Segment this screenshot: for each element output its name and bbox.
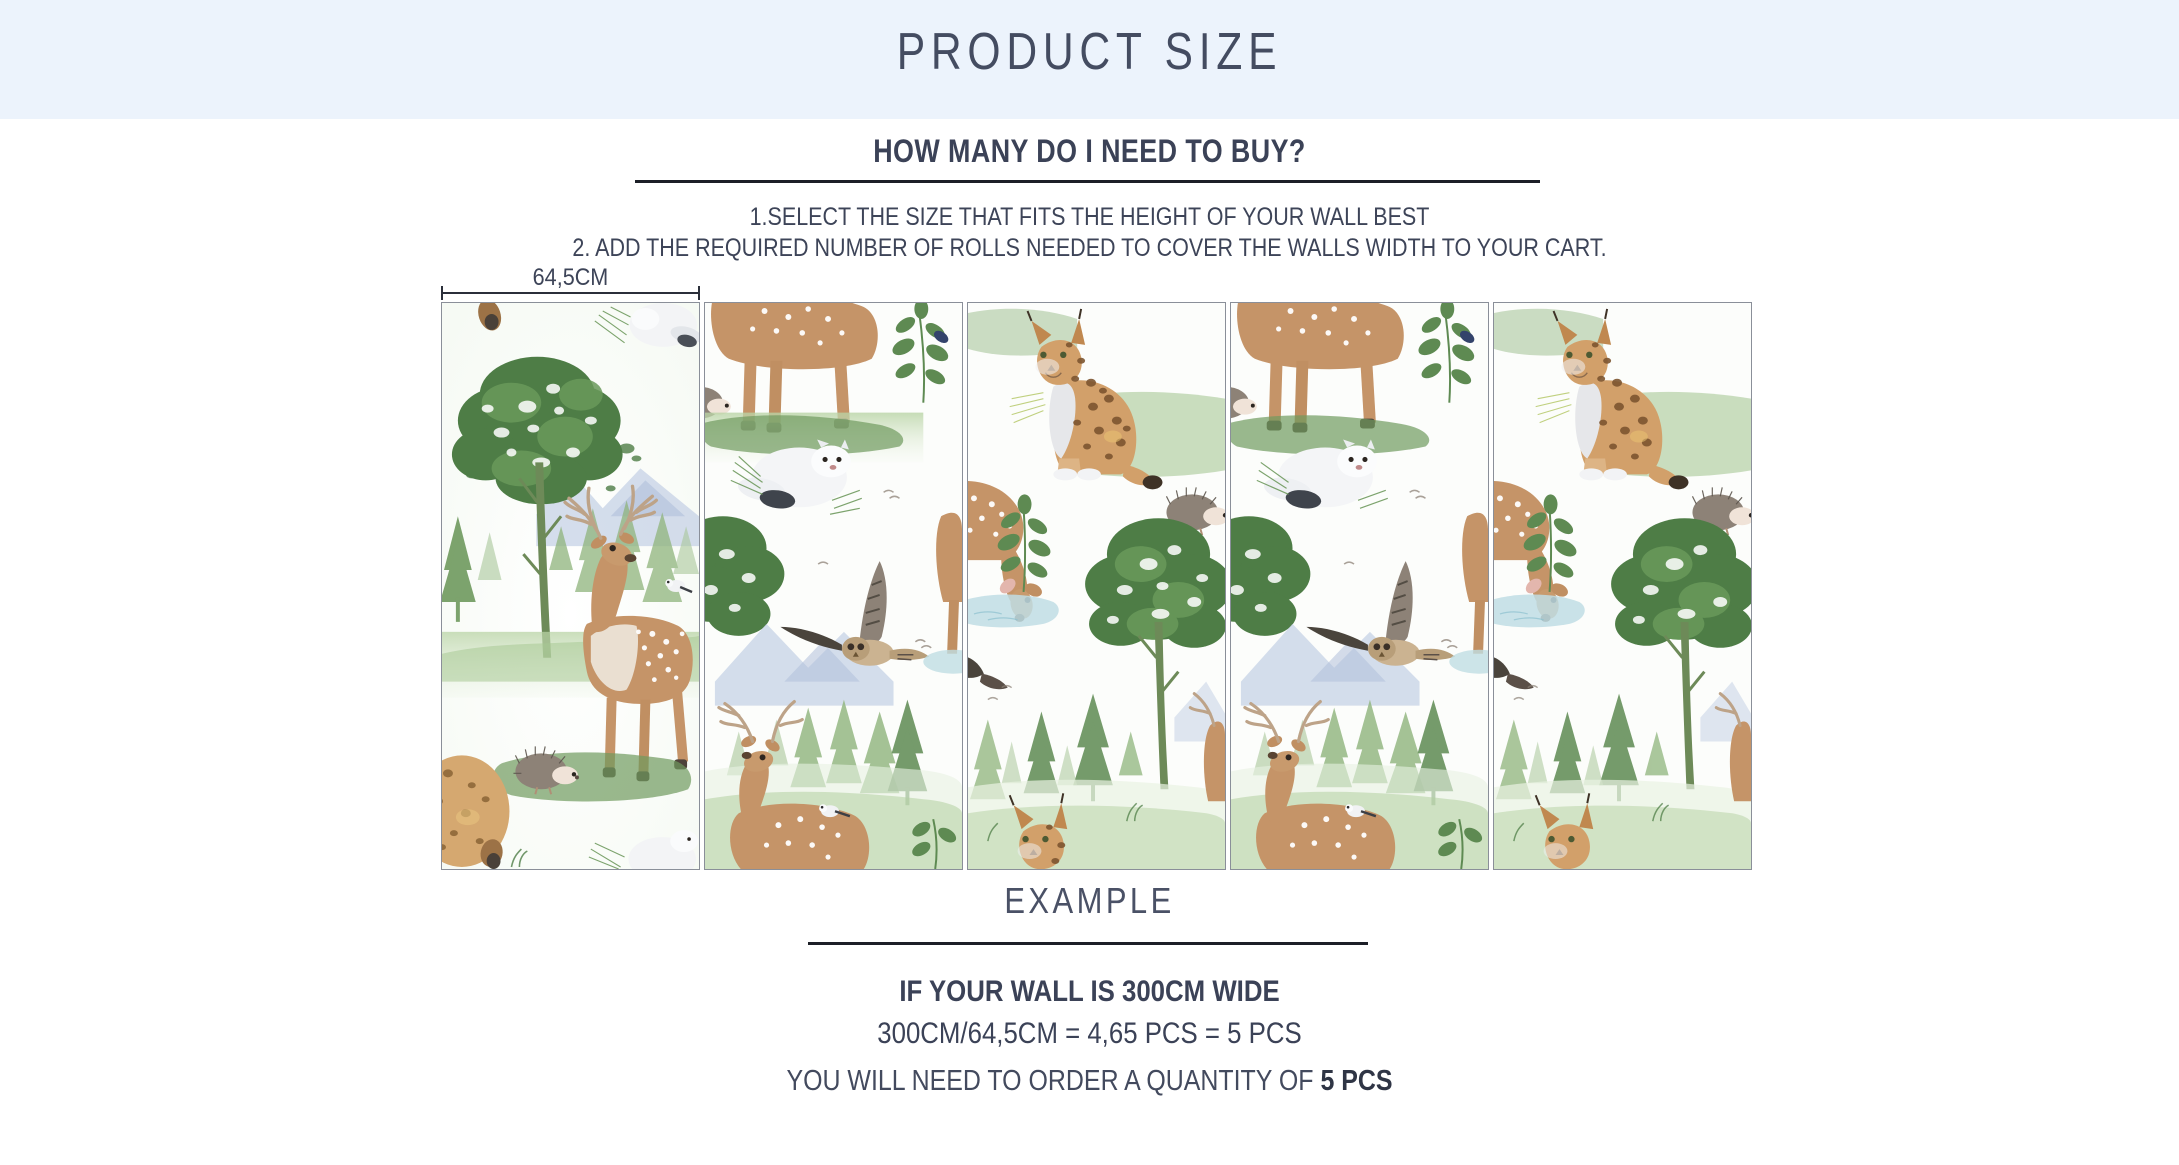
bracket-tick-left [441, 286, 443, 300]
example-divider [808, 942, 1368, 945]
example-order-quantity: YOU WILL NEED TO ORDER A QUANTITY OF 5 P… [153, 1065, 2027, 1098]
roll-panel-2[interactable] [704, 302, 963, 870]
example-calculation: 300CM/64,5CM = 4,65 PCS = 5 PCS [153, 1017, 2027, 1051]
order-quantity-value: 5 PCS [1320, 1065, 1392, 1097]
roll-panel-5[interactable] [1493, 302, 1752, 870]
subheading-divider [635, 180, 1540, 183]
instruction-line-1: 1.SELECT THE SIZE THAT FITS THE HEIGHT O… [153, 203, 2027, 232]
roll-panel-3[interactable] [967, 302, 1226, 870]
bracket-line [441, 292, 700, 294]
instruction-line-2: 2. ADD THE REQUIRED NUMBER OF ROLLS NEED… [153, 234, 2027, 263]
roll-panel-4[interactable] [1230, 302, 1489, 870]
example-wall-width: IF YOUR WALL IS 300CM WIDE [153, 975, 2027, 1009]
roll-panel-1[interactable] [441, 302, 700, 870]
wallpaper-roll-panels [441, 302, 1752, 870]
page-title: PRODUCT SIZE [196, 22, 1983, 82]
order-quantity-prefix: YOU WILL NEED TO ORDER A QUANTITY OF [786, 1065, 1320, 1097]
example-title: EXAMPLE [153, 880, 2027, 922]
bracket-tick-right [698, 286, 700, 300]
width-dimension-bracket [441, 286, 700, 300]
section-subheading: HOW MANY DO I NEED TO BUY? [174, 133, 2004, 170]
